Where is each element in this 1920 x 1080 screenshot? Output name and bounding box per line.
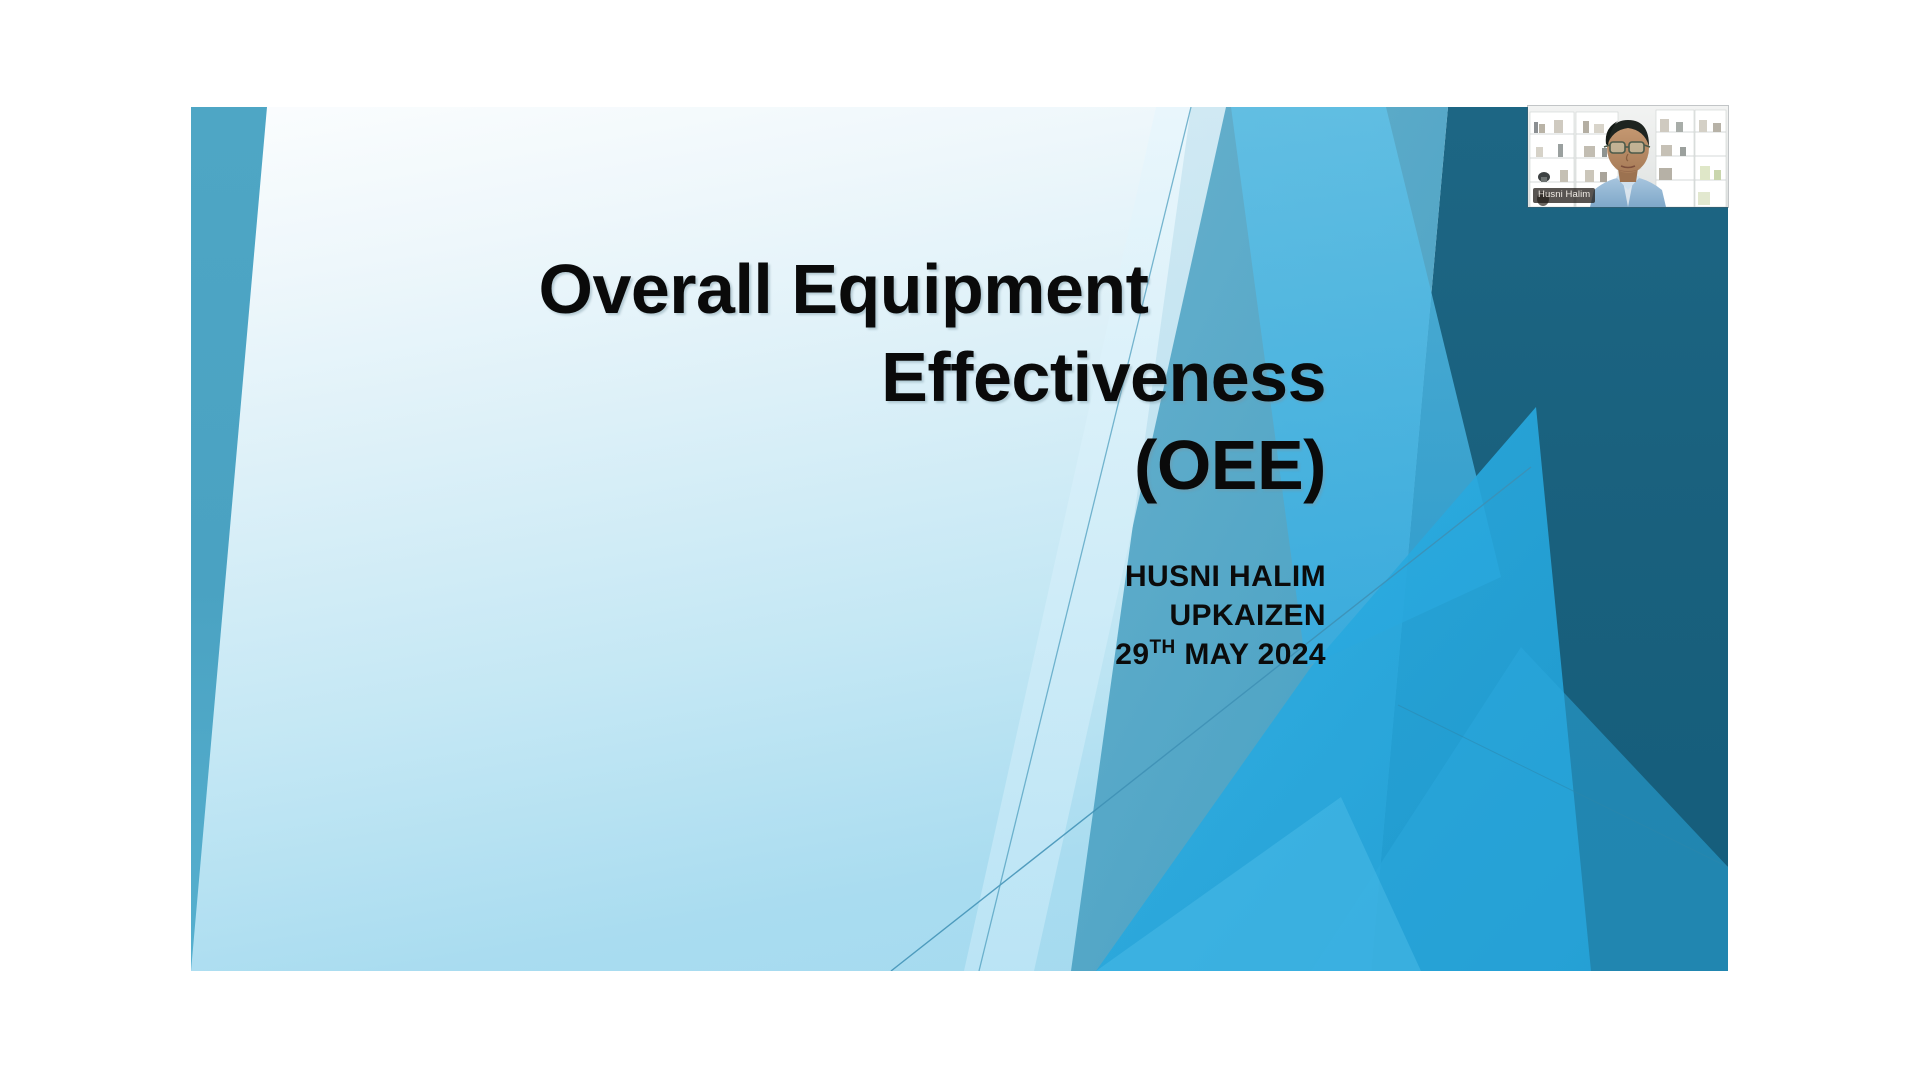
slide-decoration	[191, 107, 1728, 971]
participant-video-tile[interactable]: Husni Halim	[1528, 106, 1728, 207]
screen: Overall Equipment Effectiveness (OEE) HU…	[0, 0, 1920, 1080]
presentation-slide[interactable]: Overall Equipment Effectiveness (OEE) HU…	[191, 107, 1728, 971]
left-wedge-shape	[191, 107, 267, 971]
participant-name-label: Husni Halim	[1533, 188, 1595, 203]
